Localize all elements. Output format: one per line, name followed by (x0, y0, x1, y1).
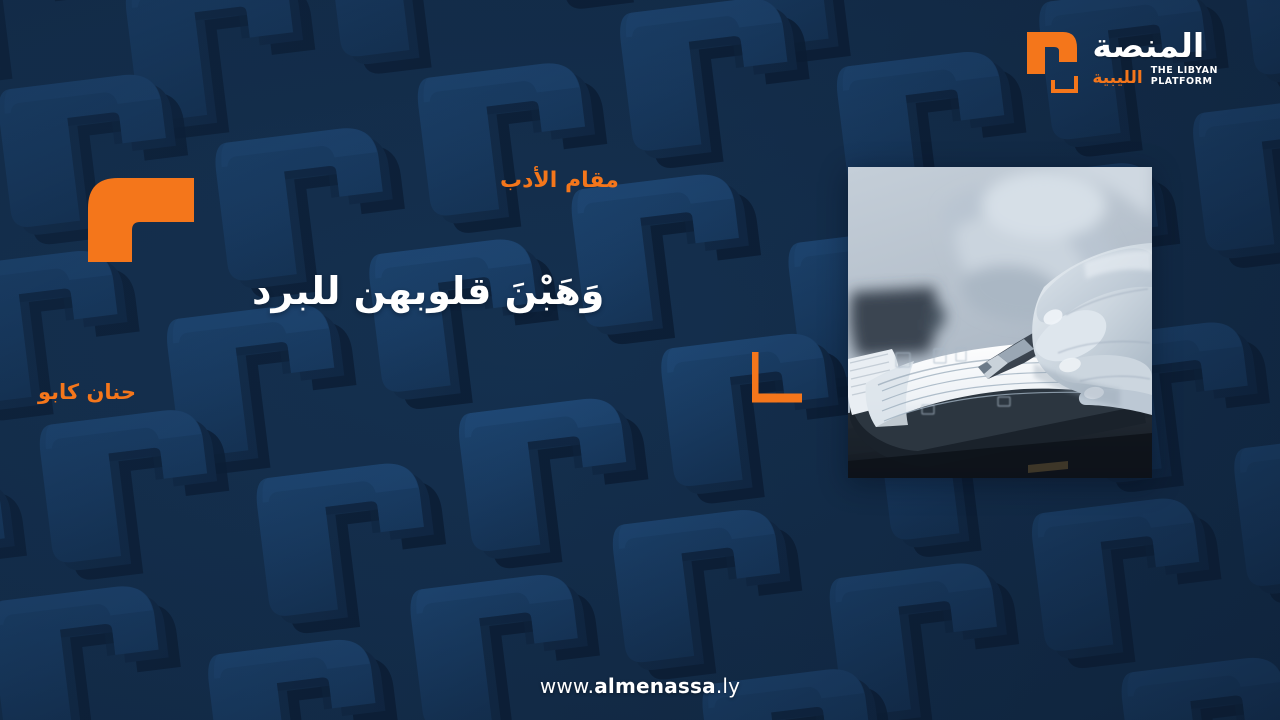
footer-url-prefix: www. (540, 674, 594, 698)
category-label: مقام الأدب (500, 168, 780, 193)
accent-bracket-top-icon (88, 170, 194, 262)
brand-wordmark-arabic-sub: الليبية (1092, 70, 1142, 87)
brand-logo[interactable]: المنصة THE LIBYAN PLATFORM الليبية (1023, 22, 1218, 94)
article-photo (848, 167, 1152, 478)
photo-image (848, 167, 1152, 478)
accent-bracket-bottom-icon (752, 352, 802, 408)
brand-wordmark-arabic: المنصة (1092, 29, 1204, 62)
almenassa-logo-mark-icon (1023, 22, 1083, 94)
page-title: وَهَبْنَ قلوبهن للبرد (252, 268, 632, 316)
footer-url[interactable]: www.almenassa.ly (0, 674, 1280, 698)
brand-subtitle-row: THE LIBYAN PLATFORM الليبية (1092, 65, 1218, 87)
brand-logo-text: المنصة THE LIBYAN PLATFORM الليبية (1092, 29, 1218, 87)
social-card: المنصة THE LIBYAN PLATFORM الليبية مقام … (0, 0, 1280, 720)
footer-url-brand: almenassa (594, 674, 716, 698)
brand-wordmark-english: THE LIBYAN PLATFORM (1151, 65, 1218, 87)
footer-url-suffix: .ly (716, 674, 740, 698)
author-name: حنان كابو (38, 380, 258, 404)
